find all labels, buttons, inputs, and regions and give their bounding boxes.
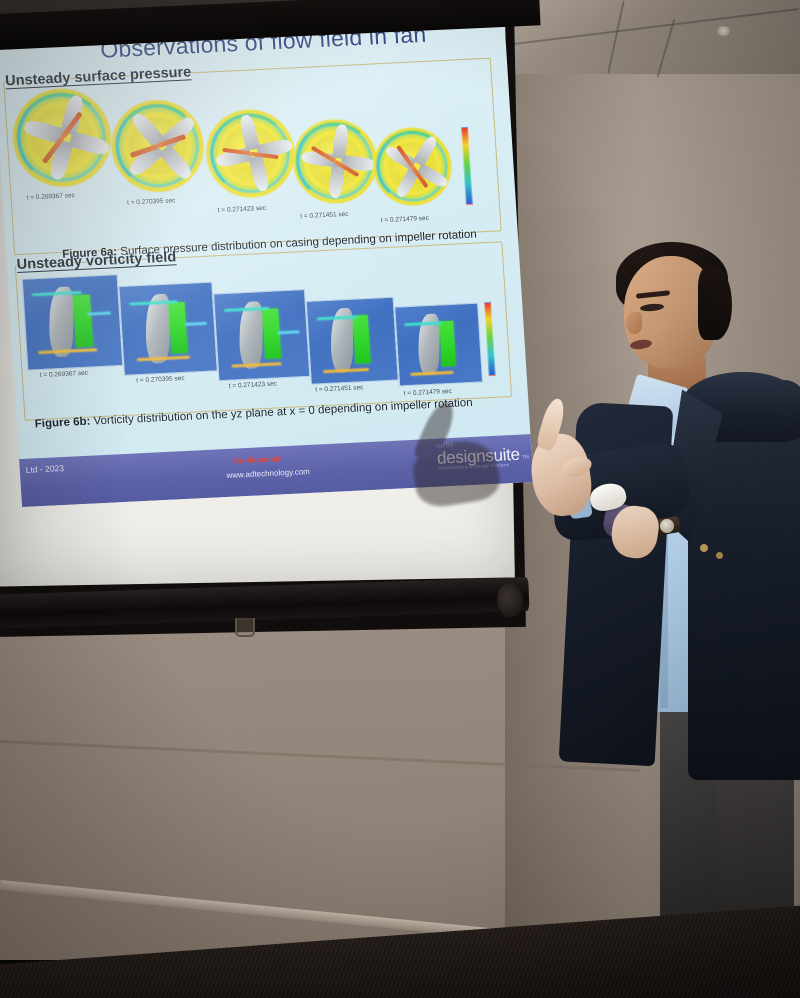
nose xyxy=(626,312,642,334)
presentation-photo: Observations of flow field in fan Unstea… xyxy=(0,0,800,998)
vorticity-frame-1 xyxy=(22,274,124,371)
impeller-frame-3 xyxy=(204,107,297,199)
wristwatch-face xyxy=(660,519,674,533)
impeller-frame-5 xyxy=(371,126,454,208)
impeller-frame-1 xyxy=(10,86,114,189)
designsuite-logo: turbo designsuite Turbomachinery Design … xyxy=(436,439,520,471)
impeller-frame-2 xyxy=(109,98,207,194)
footer-left-text: Ltd - 2023 xyxy=(25,463,64,475)
slide: Observations of flow field in fan Unstea… xyxy=(0,5,533,507)
presenter xyxy=(520,252,800,998)
ceiling-tiles xyxy=(505,0,800,74)
vorticity-frame-2 xyxy=(118,282,218,376)
figure-6b-label: Figure 6b: xyxy=(34,416,90,431)
vorticity-frame-4 xyxy=(306,297,399,385)
impeller-frame-4 xyxy=(290,117,379,205)
hair-side xyxy=(698,266,732,340)
footer-confidential: Confidential xyxy=(233,454,280,465)
blazer-button-lower xyxy=(716,552,723,559)
blazer-button-upper xyxy=(700,544,708,552)
screen-pull-hook xyxy=(235,618,255,637)
vorticity-frame-3 xyxy=(213,289,310,381)
footer-url: www.adtechnology.com xyxy=(226,467,310,480)
vorticity-frame-5 xyxy=(394,303,483,387)
slide-area: Observations of flow field in fan Unstea… xyxy=(0,5,533,507)
